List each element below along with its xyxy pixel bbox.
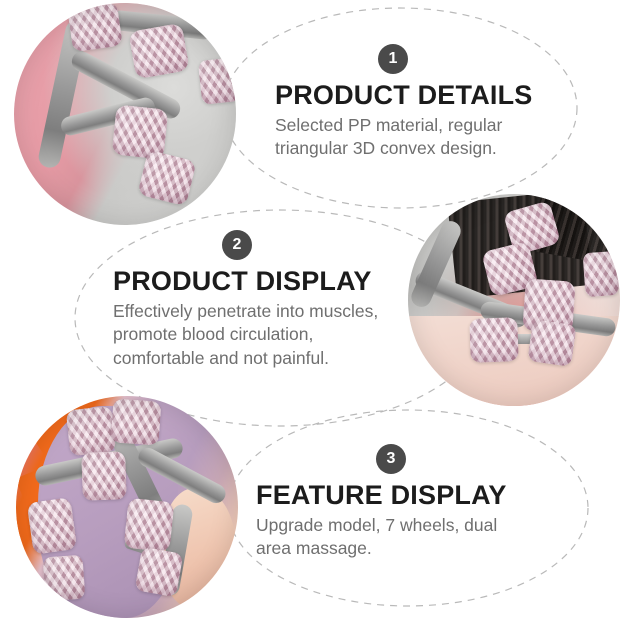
step-number: 2 [233,237,242,253]
photo-vignette [16,396,238,618]
section-2-heading: PRODUCT DISPLAY [113,266,378,297]
step-badge-2: 2 [222,230,252,260]
section-1-heading: PRODUCT DETAILS [275,80,533,111]
product-photo-3 [16,396,238,618]
body-line: Selected PP material, regular [275,114,533,137]
photo-vignette [408,194,620,406]
body-line: triangular 3D convex design. [275,137,533,160]
photo-1-scene [14,3,236,225]
body-line: promote blood circulation, [113,323,378,346]
step-badge-3: 3 [376,444,406,474]
step-number: 3 [387,451,396,467]
body-line: comfortable and not painful. [113,347,378,370]
body-line: Upgrade model, 7 wheels, dual [256,514,507,537]
section-3-text: 3 FEATURE DISPLAY Upgrade model, 7 wheel… [256,444,507,561]
body-line: Effectively penetrate into muscles, [113,300,378,323]
photo-vignette [14,3,236,225]
product-photo-1 [14,3,236,225]
photo-3-scene [16,396,238,618]
section-2-body: Effectively penetrate into muscles, prom… [113,300,378,370]
product-infographic: 1 PRODUCT DETAILS Selected PP material, … [0,0,623,620]
section-3-body: Upgrade model, 7 wheels, dual area massa… [256,514,507,561]
section-1-body: Selected PP material, regular triangular… [275,114,533,161]
section-2-text: 2 PRODUCT DISPLAY Effectively penetrate … [113,230,378,370]
product-photo-2 [408,194,620,406]
step-badge-1: 1 [378,44,408,74]
section-3-heading: FEATURE DISPLAY [256,480,507,511]
photo-2-scene [408,194,620,406]
body-line: area massage. [256,537,507,560]
step-number: 1 [389,51,398,67]
section-1-text: 1 PRODUCT DETAILS Selected PP material, … [275,44,533,161]
